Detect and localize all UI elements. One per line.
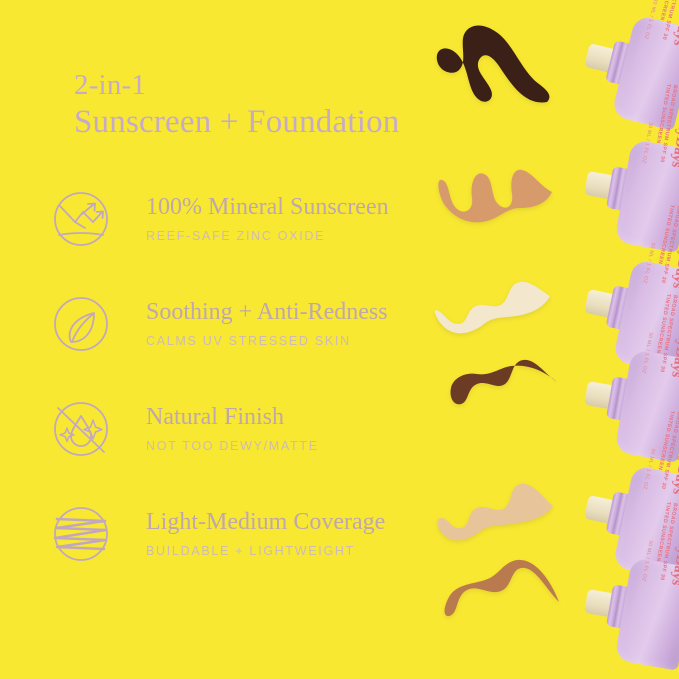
shade-swatch-caramel xyxy=(441,532,567,632)
bottle-graphic[interactable]: SunnyDays BROAD SPECTRUM SPF 30 TINTED S… xyxy=(593,553,679,670)
feature-text-block: Soothing + Anti-Redness CALMS UV STRESSE… xyxy=(146,297,388,350)
product-bottle-column: SunnyDays BROAD SPECTRUM SPF 30 TINTED S… xyxy=(459,0,679,679)
feature-text-block: 100% Mineral Sunscreen REEF-SAFE ZINC OX… xyxy=(146,192,389,245)
uv-deflect-icon xyxy=(52,190,110,248)
feature-list: 100% Mineral Sunscreen REEF-SAFE ZINC OX… xyxy=(52,190,482,610)
feature-subtitle: BUILDABLE + LIGHTWEIGHT xyxy=(146,542,385,560)
feature-text-block: Light-Medium Coverage BUILDABLE + LIGHTW… xyxy=(146,507,385,560)
coverage-scribble-icon xyxy=(52,505,110,563)
feature-item-mineral-sunscreen: 100% Mineral Sunscreen REEF-SAFE ZINC OX… xyxy=(52,190,482,295)
feature-item-soothing: Soothing + Anti-Redness CALMS UV STRESSE… xyxy=(52,295,482,400)
feature-item-coverage: Light-Medium Coverage BUILDABLE + LIGHTW… xyxy=(52,505,482,610)
feature-title: Soothing + Anti-Redness xyxy=(146,297,388,327)
bottle-label: SunnyDays BROAD SPECTRUM SPF 30 TINTED S… xyxy=(622,566,679,662)
bottle-body: SunnyDays BROAD SPECTRUM SPF 30 TINTED S… xyxy=(614,557,679,671)
no-dewy-droplet-icon xyxy=(52,400,110,458)
feature-title: 100% Mineral Sunscreen xyxy=(146,192,389,222)
leaf-icon xyxy=(52,295,110,353)
feature-item-natural-finish: Natural Finish NOT TOO DEWY/MATTE xyxy=(52,400,482,505)
feature-subtitle: CALMS UV STRESSED SKIN xyxy=(146,332,388,350)
shade-swatch-espresso xyxy=(429,14,559,114)
feature-title: Light-Medium Coverage xyxy=(146,507,385,537)
product-infographic: 2-in-1 Sunscreen + Foundation 100% Miner xyxy=(0,0,679,679)
feature-text-block: Natural Finish NOT TOO DEWY/MATTE xyxy=(146,402,319,455)
feature-subtitle: NOT TOO DEWY/MATTE xyxy=(146,437,319,455)
shade-swatch-tan xyxy=(436,146,561,236)
shade-swatch-cocoa xyxy=(447,330,567,420)
feature-subtitle: REEF-SAFE ZINC OXIDE xyxy=(146,227,389,245)
feature-title: Natural Finish xyxy=(146,402,319,432)
